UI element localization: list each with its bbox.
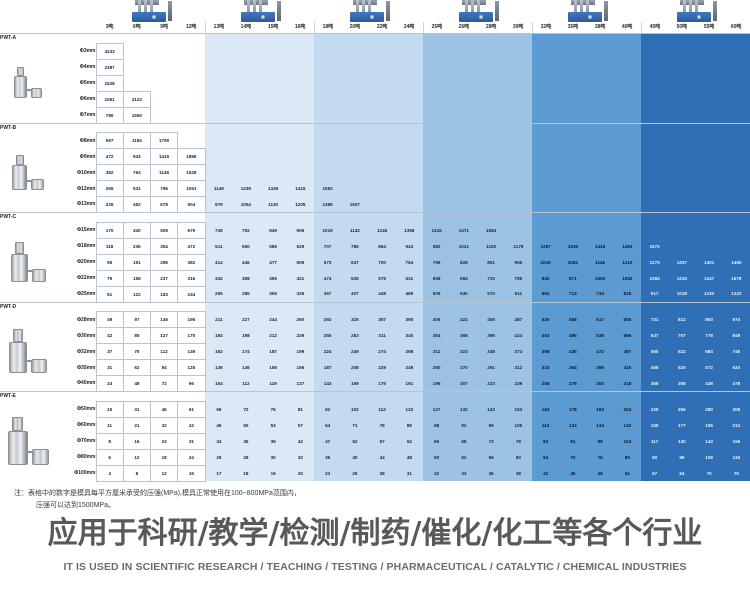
- pressure-cell: 125: [178, 360, 205, 376]
- group-header-cell: [423, 123, 450, 133]
- pressure-cell: 64: [668, 465, 695, 481]
- group-header-cell: [532, 392, 559, 402]
- pressure-cell: 260: [287, 312, 314, 328]
- pressure-cell: 1415: [423, 222, 450, 238]
- pressure-cell: [396, 107, 423, 123]
- pressure-cell: 1584: [478, 222, 505, 238]
- pressure-cell: 80: [614, 449, 641, 465]
- pressure-cell: [614, 149, 641, 165]
- pressure-cell: 170: [96, 222, 123, 238]
- group-header-cell: [396, 392, 423, 402]
- pressure-cell: 572: [696, 360, 723, 376]
- pressure-cell: [505, 181, 532, 197]
- pressure-cell: [723, 238, 750, 254]
- pressure-cell: 178: [559, 401, 586, 417]
- pressure-cell: 348: [478, 344, 505, 360]
- pressure-cell: 48: [587, 465, 614, 481]
- press-machine-2: [205, 0, 314, 22]
- pressure-cell: 106: [505, 417, 532, 433]
- pressure-cell: 191: [123, 254, 150, 270]
- pressure-cell: 1471: [450, 222, 477, 238]
- group-header-cell: [341, 392, 368, 402]
- application-subtitle-cn: 应用于科研/教学/检测/制药/催化/化工等各个行业: [48, 508, 703, 552]
- pressure-cell: 72: [232, 401, 259, 417]
- table-row: Φ18mm11823635447251155058962970778686494…: [0, 238, 750, 254]
- pressure-cell: 707: [668, 328, 695, 344]
- pressure-cell: 61: [178, 401, 205, 417]
- pressure-cell: 134: [587, 417, 614, 433]
- pressure-cell: 917: [641, 286, 668, 302]
- pressure-cell: 229: [641, 401, 668, 417]
- pressure-cell: 789: [505, 270, 532, 286]
- pressure-cell: [641, 149, 668, 165]
- pressure-cell: 778: [696, 328, 723, 344]
- pressure-cell: 815: [614, 286, 641, 302]
- tonnage-header-14: 26吨: [450, 22, 477, 34]
- pressure-cell: 509: [151, 222, 178, 238]
- pressure-cell: 31: [178, 433, 205, 449]
- pressure-cell: [287, 91, 314, 107]
- group-header-cell: [396, 302, 423, 312]
- pressure-cell: [559, 222, 586, 238]
- pressure-cell: 373: [505, 344, 532, 360]
- pressure-cell: [668, 165, 695, 181]
- pressure-cell: 31: [96, 360, 123, 376]
- pressure-cell: [478, 165, 505, 181]
- pressure-cell: [423, 43, 450, 59]
- pressure-cell: 1415: [587, 238, 614, 254]
- pressure-cell: 472: [587, 344, 614, 360]
- pressure-cell: 354: [423, 328, 450, 344]
- pressure-cell: 746: [723, 344, 750, 360]
- pressure-cell: 28: [369, 465, 396, 481]
- pressure-cell: 71: [341, 417, 368, 433]
- group-header-cell: [314, 123, 341, 133]
- pressure-cell: 472: [96, 149, 123, 165]
- pressure-cell: 631: [396, 270, 423, 286]
- pressure-cell: 8: [123, 465, 150, 481]
- pressure-cell: 78: [369, 417, 396, 433]
- pressure-cell: 280: [696, 401, 723, 417]
- pressure-cell: 109: [696, 449, 723, 465]
- group-header-cell: [178, 302, 205, 312]
- pressure-cell: 36: [314, 449, 341, 465]
- tonnage-header-4: 12吨: [178, 22, 205, 34]
- pressure-cell: 37: [96, 344, 123, 360]
- pressure-cell: [478, 133, 505, 149]
- pressure-cell: 38: [505, 465, 532, 481]
- pressure-cell: 550: [232, 238, 259, 254]
- pressure-cell: 1358: [396, 222, 423, 238]
- pressure-cell: 274: [369, 344, 396, 360]
- pressure-cell: 1493: [614, 238, 641, 254]
- pressure-cell: 142: [614, 417, 641, 433]
- group-header-cell: [587, 392, 614, 402]
- pressure-cell: 23: [151, 433, 178, 449]
- pressure-cell: [614, 181, 641, 197]
- pressure-cell: 511: [205, 238, 232, 254]
- pressure-cell: [478, 181, 505, 197]
- pressure-cell: 955: [505, 254, 532, 270]
- pressure-cell: 44: [369, 449, 396, 465]
- pressure-cell: [260, 91, 287, 107]
- pressure-cell: 99: [587, 433, 614, 449]
- group-header-cell: [723, 302, 750, 312]
- pressure-cell: 472: [178, 238, 205, 254]
- pressure-cell: 468: [641, 360, 668, 376]
- pressure-cell: [641, 133, 668, 149]
- pressure-cell: 143: [696, 433, 723, 449]
- pressure-cell: [614, 165, 641, 181]
- diameter-label: Φ20mm: [56, 254, 96, 270]
- group-header-cell: [478, 302, 505, 312]
- pressure-cell: [668, 181, 695, 197]
- pressure-cell: 792: [232, 222, 259, 238]
- pressure-cell: 61: [96, 286, 123, 302]
- die-photo-pwt-b: [0, 133, 56, 213]
- pressure-cell: 424: [505, 328, 532, 344]
- pressure-cell: 1273: [641, 254, 668, 270]
- pressure-cell: [341, 59, 368, 75]
- pressure-cell: 395: [587, 360, 614, 376]
- pressure-cell: 478: [723, 376, 750, 392]
- pressure-cell: 1120: [696, 286, 723, 302]
- tonnage-header-12: 24吨: [396, 22, 423, 34]
- pressure-cell: 119: [260, 376, 287, 392]
- pressure-cell: 1084: [641, 270, 668, 286]
- pressure-cell: [478, 91, 505, 107]
- pressure-cell: 104: [614, 433, 641, 449]
- pressure-cell: [559, 181, 586, 197]
- pressure-cell: 446: [232, 254, 259, 270]
- pressure-cell: 166: [287, 360, 314, 376]
- pressure-cell: 36: [478, 465, 505, 481]
- group-header-cell: [532, 123, 559, 133]
- pressure-cell: 57: [287, 417, 314, 433]
- group-header-cell: [614, 302, 641, 312]
- pressure-cell: 191: [396, 376, 423, 392]
- pressure-cell: [505, 222, 532, 238]
- pressure-cell: 68: [450, 433, 477, 449]
- pressure-cell: 1019: [532, 254, 559, 270]
- pressure-cell: [478, 75, 505, 91]
- pressure-cell: 812: [668, 312, 695, 328]
- pressure-cell: 8: [96, 433, 123, 449]
- group-header-cell: [668, 213, 695, 223]
- pressure-cell: 57: [641, 465, 668, 481]
- pressure-cell: 184: [205, 328, 232, 344]
- group-header-cell: [178, 213, 205, 223]
- pressure-cell: 710: [478, 270, 505, 286]
- tonnage-header-13: 25吨: [423, 22, 450, 34]
- group-header-cell: [587, 34, 614, 44]
- group-header-cell: [260, 213, 287, 223]
- group-header-cell: [369, 302, 396, 312]
- group-header-cell: [641, 302, 668, 312]
- table-row: Φ28mm49971461952112272442602923253573904…: [0, 312, 750, 328]
- pressure-cell: 76: [260, 401, 287, 417]
- pressure-cell: [369, 75, 396, 91]
- pressure-cell: [423, 149, 450, 165]
- pressure-cell: 124: [559, 417, 586, 433]
- pressure-cell: [369, 107, 396, 123]
- pressure-cell: 617: [587, 312, 614, 328]
- press-icon: [237, 0, 283, 22]
- group-header-cell: [614, 392, 641, 402]
- tonnage-header-6: 14吨: [232, 22, 259, 34]
- pressure-cell: [559, 107, 586, 123]
- pressure-cell: [532, 165, 559, 181]
- group-header-cell: [341, 213, 368, 223]
- table-row: Φ50mm15314661667276819210211212212713214…: [0, 401, 750, 417]
- pressure-cell: 130: [668, 433, 695, 449]
- table-row: Φ8mm59711941790: [0, 133, 750, 149]
- pressure-cell: 76: [723, 465, 750, 481]
- pressure-cell: 414: [205, 254, 232, 270]
- pressure-cell: [668, 59, 695, 75]
- pressure-cell: [641, 43, 668, 59]
- pressure-cell: 41: [532, 465, 559, 481]
- pressure-cell: [260, 43, 287, 59]
- tonnage-header-7: 15吨: [260, 22, 287, 34]
- pressure-cell: 435: [559, 344, 586, 360]
- pressure-cell: [232, 59, 259, 75]
- pressure-cell: [587, 222, 614, 238]
- group-header-cell: [532, 34, 559, 44]
- pressure-cell: [559, 133, 586, 149]
- pressure-cell: 24: [178, 449, 205, 465]
- pressure-cell: 15: [96, 401, 123, 417]
- pressure-cell: 21: [123, 417, 150, 433]
- group-header-cell: [205, 392, 232, 402]
- pressure-cell: 244: [178, 286, 205, 302]
- pressure-cell: 325: [341, 312, 368, 328]
- pressure-cell: [151, 43, 178, 59]
- pressure-cell: 342: [205, 270, 232, 286]
- pressure-cell: [641, 107, 668, 123]
- pressure-cell: [450, 43, 477, 59]
- table-row: Φ5mm1528: [0, 75, 750, 91]
- pressure-cell: 156: [723, 433, 750, 449]
- group-header-cell: [505, 34, 532, 44]
- pressure-cell: 46: [205, 417, 232, 433]
- group-header-cell: [505, 302, 532, 312]
- group-header-cell: [151, 392, 178, 402]
- table-row: Φ70mm81623313436394247525762656873788391…: [0, 433, 750, 449]
- pressure-cell: 85: [123, 328, 150, 344]
- pressure-cell: 700: [369, 254, 396, 270]
- group-label-pwt-c: PWT-C: [0, 213, 96, 223]
- pressure-cell: 906: [287, 222, 314, 238]
- pressure-cell: 95: [96, 254, 123, 270]
- pressure-cell: 132: [450, 401, 477, 417]
- group-header-cell: [587, 213, 614, 223]
- pressure-cell: [205, 149, 232, 165]
- pressure-cell: [205, 43, 232, 59]
- pressure-cell: [232, 149, 259, 165]
- pressure-cell: [314, 133, 341, 149]
- group-header-cell: [723, 213, 750, 223]
- pressure-cell: [696, 133, 723, 149]
- pressure-cell: 36: [232, 433, 259, 449]
- pressure-cell: 2122: [123, 91, 150, 107]
- pressure-cell: [396, 181, 423, 197]
- pressure-cell: 64: [314, 417, 341, 433]
- group-header-cell: [450, 302, 477, 312]
- pressure-cell: [314, 75, 341, 91]
- pressure-cell: 249: [341, 344, 368, 360]
- pressure-cell: 1061: [96, 91, 123, 107]
- pressure-cell: 487: [505, 312, 532, 328]
- pressure-cell: [450, 75, 477, 91]
- pressure-cell: 871: [559, 270, 586, 286]
- group-header-cell: [178, 123, 205, 133]
- pressure-cell: [396, 91, 423, 107]
- tonnage-header-row: 3吨6吨9吨12吨13吨14吨15吨16吨18吨20吨22吨24吨25吨26吨2…: [0, 22, 750, 34]
- pressure-cell: 227: [232, 312, 259, 328]
- press-icon: [455, 0, 501, 22]
- pressure-cell: [287, 43, 314, 59]
- note-line-1: 注：表格中的数字是模具每平方厘米承受的压强(MPa),模具正常使用在100~80…: [14, 488, 750, 500]
- die-illustration: [11, 242, 46, 282]
- pressure-cell: 292: [314, 312, 341, 328]
- group-header-cell: [450, 392, 477, 402]
- group-label-pwt-b: PWT-B: [0, 123, 96, 133]
- pressure-cell: [505, 75, 532, 91]
- diameter-label: Φ80mm: [56, 449, 96, 465]
- tonnage-header-10: 20吨: [341, 22, 368, 34]
- group-header-row: PWT-C: [0, 213, 750, 223]
- group-header-cell: [369, 123, 396, 133]
- table-row: Φ60mm11213242465053576471788588929910611…: [0, 417, 750, 433]
- pressure-cell: 239: [505, 376, 532, 392]
- pressure-cell: [314, 59, 341, 75]
- pressure-cell: [559, 197, 586, 213]
- pressure-cell: 734: [587, 286, 614, 302]
- pressure-cell: 354: [151, 238, 178, 254]
- pressure-cell: [505, 59, 532, 75]
- pressure-cell: 312: [505, 360, 532, 376]
- group-header-row: PWT-E: [0, 392, 750, 402]
- group-header-cell: [232, 34, 259, 44]
- pressure-cell: [723, 197, 750, 213]
- pressure-cell: 143: [314, 376, 341, 392]
- group-header-cell: [287, 213, 314, 223]
- pressure-cell: 448: [369, 286, 396, 302]
- pressure-cell: [614, 91, 641, 107]
- pressure-cell: [232, 107, 259, 123]
- pressure-cell: 174: [232, 344, 259, 360]
- pressure-cell: 285: [232, 286, 259, 302]
- pressure-cell: 828: [450, 254, 477, 270]
- pressure-cell: 66: [205, 401, 232, 417]
- tonnage-header-15: 28吨: [478, 22, 505, 34]
- pressure-cell: 637: [341, 254, 368, 270]
- die-photo-pwt-a: [0, 43, 56, 123]
- group-header-cell: [587, 123, 614, 133]
- pressure-cell: [505, 91, 532, 107]
- pressure-cell: [178, 59, 205, 75]
- pressure-cell: [396, 165, 423, 181]
- pressure-cell: [614, 59, 641, 75]
- pressure-cell: 531: [123, 181, 150, 197]
- pressure-cell: [532, 91, 559, 107]
- pressure-cell: [287, 107, 314, 123]
- group-header-cell: [696, 302, 723, 312]
- pressure-cell: 1257: [532, 238, 559, 254]
- pressure-cell: 421: [287, 270, 314, 286]
- pressure-cell: 32: [423, 465, 450, 481]
- press-photo-row: [0, 0, 750, 22]
- pressure-cell: 136: [205, 360, 232, 376]
- group-header-cell: [260, 302, 287, 312]
- die-photo-pwt-d: [0, 312, 56, 392]
- tonnage-row-spacer: [0, 22, 96, 34]
- pressure-cell: 146: [232, 360, 259, 376]
- pressure-cell: 982: [423, 238, 450, 254]
- group-header-cell: [723, 123, 750, 133]
- table-row: Φ25mm61122183244265285306326367407448489…: [0, 286, 750, 302]
- pressure-spec-table: 3吨6吨9吨12吨13吨14吨15吨16吨18吨20吨22吨24吨25吨26吨2…: [0, 0, 750, 482]
- group-header-row: PWT-D: [0, 302, 750, 312]
- pressure-cell: 637: [641, 328, 668, 344]
- pressure-cell: 2387: [96, 59, 123, 75]
- pressure-cell: 51: [614, 465, 641, 481]
- tonnage-header-11: 22吨: [369, 22, 396, 34]
- pressure-cell: 1146: [151, 165, 178, 181]
- pressure-cell: 25: [341, 465, 368, 481]
- pressure-cell: [205, 165, 232, 181]
- pressure-cell: [614, 107, 641, 123]
- press-machine-5: [532, 0, 641, 22]
- pressure-cell: 796: [151, 181, 178, 197]
- pressure-cell: [587, 181, 614, 197]
- group-header-cell: [151, 123, 178, 133]
- tonnage-header-2: 6吨: [123, 22, 150, 34]
- pressure-cell: 1592: [314, 181, 341, 197]
- pressure-cell: 438: [696, 376, 723, 392]
- pressure-cell: 652: [532, 286, 559, 302]
- tonnage-header-5: 13吨: [205, 22, 232, 34]
- pressure-cell: 81: [287, 401, 314, 417]
- pressure-cell: [723, 133, 750, 149]
- tonnage-header-24: 60吨: [723, 22, 750, 34]
- pressure-cell: 520: [668, 360, 695, 376]
- pressure-cell: 684: [696, 344, 723, 360]
- pressure-cell: [723, 222, 750, 238]
- pressure-cell: 17: [205, 465, 232, 481]
- pressure-cell: [532, 197, 559, 213]
- pressure-cell: 622: [668, 344, 695, 360]
- group-header-cell: [260, 34, 287, 44]
- pressure-cell: 122: [123, 286, 150, 302]
- pressure-cell: [641, 91, 668, 107]
- pressure-cell: 1130: [260, 197, 287, 213]
- pressure-cell: [668, 107, 695, 123]
- pressure-cell: 1415: [287, 181, 314, 197]
- pressure-cell: 1132: [341, 222, 368, 238]
- pressure-cell: [178, 43, 205, 59]
- pressure-cell: 340: [396, 328, 423, 344]
- pressure-cell: 255: [314, 328, 341, 344]
- table-note: 注：表格中的数字是模具每平方厘米承受的压强(MPa),模具正常使用在100~80…: [0, 482, 750, 512]
- pressure-cell: [668, 238, 695, 254]
- pressure-cell: 53: [260, 417, 287, 433]
- pressure-cell: [723, 107, 750, 123]
- group-label-pwt-d: PWT-D: [0, 302, 96, 312]
- pressure-cell: [369, 91, 396, 107]
- group-header-cell: [232, 302, 259, 312]
